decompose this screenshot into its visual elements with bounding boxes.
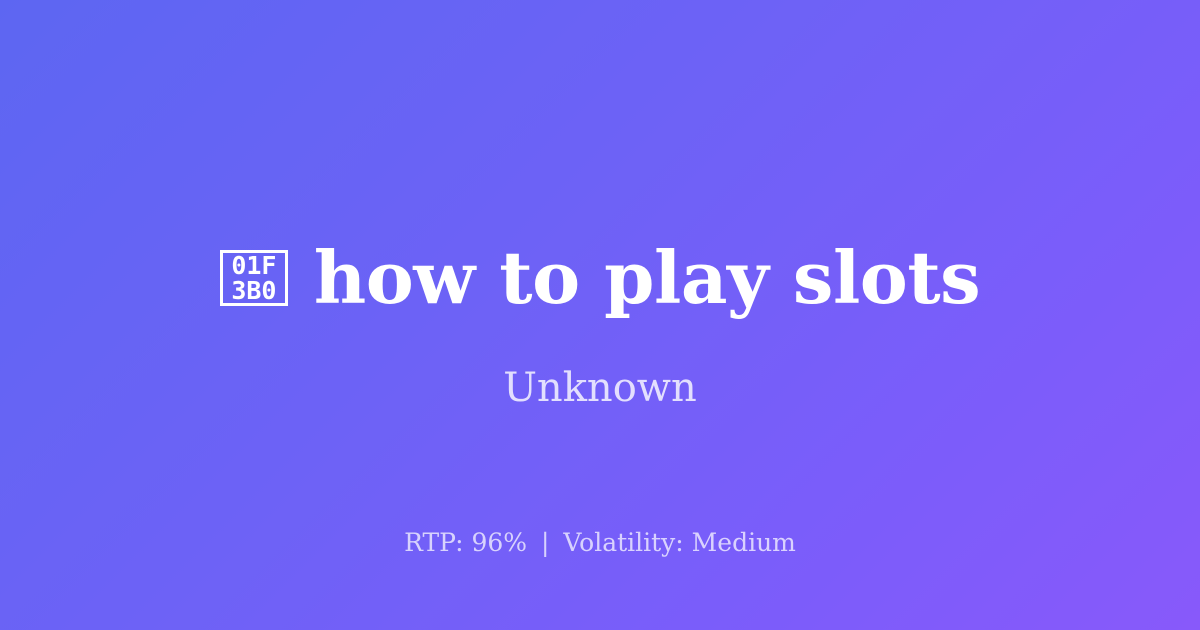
slot-machine-icon: 01F 3B0 xyxy=(220,250,288,306)
title-row: 01F 3B0 how to play slots xyxy=(0,232,1200,324)
slot-machine-icon-codepoint-top: 01F xyxy=(231,253,276,278)
slot-machine-icon-codepoint-bottom: 3B0 xyxy=(231,278,276,303)
game-stats-meta: RTP: 96% | Volatility: Medium xyxy=(0,527,1200,559)
og-card: 01F 3B0 how to play slots Unknown RTP: 9… xyxy=(0,0,1200,630)
page-title: how to play slots xyxy=(314,234,980,322)
meta-separator: | xyxy=(535,528,555,557)
volatility-value: Volatility: Medium xyxy=(563,528,795,557)
provider-subtitle: Unknown xyxy=(0,362,1200,414)
rtp-value: RTP: 96% xyxy=(404,528,527,557)
